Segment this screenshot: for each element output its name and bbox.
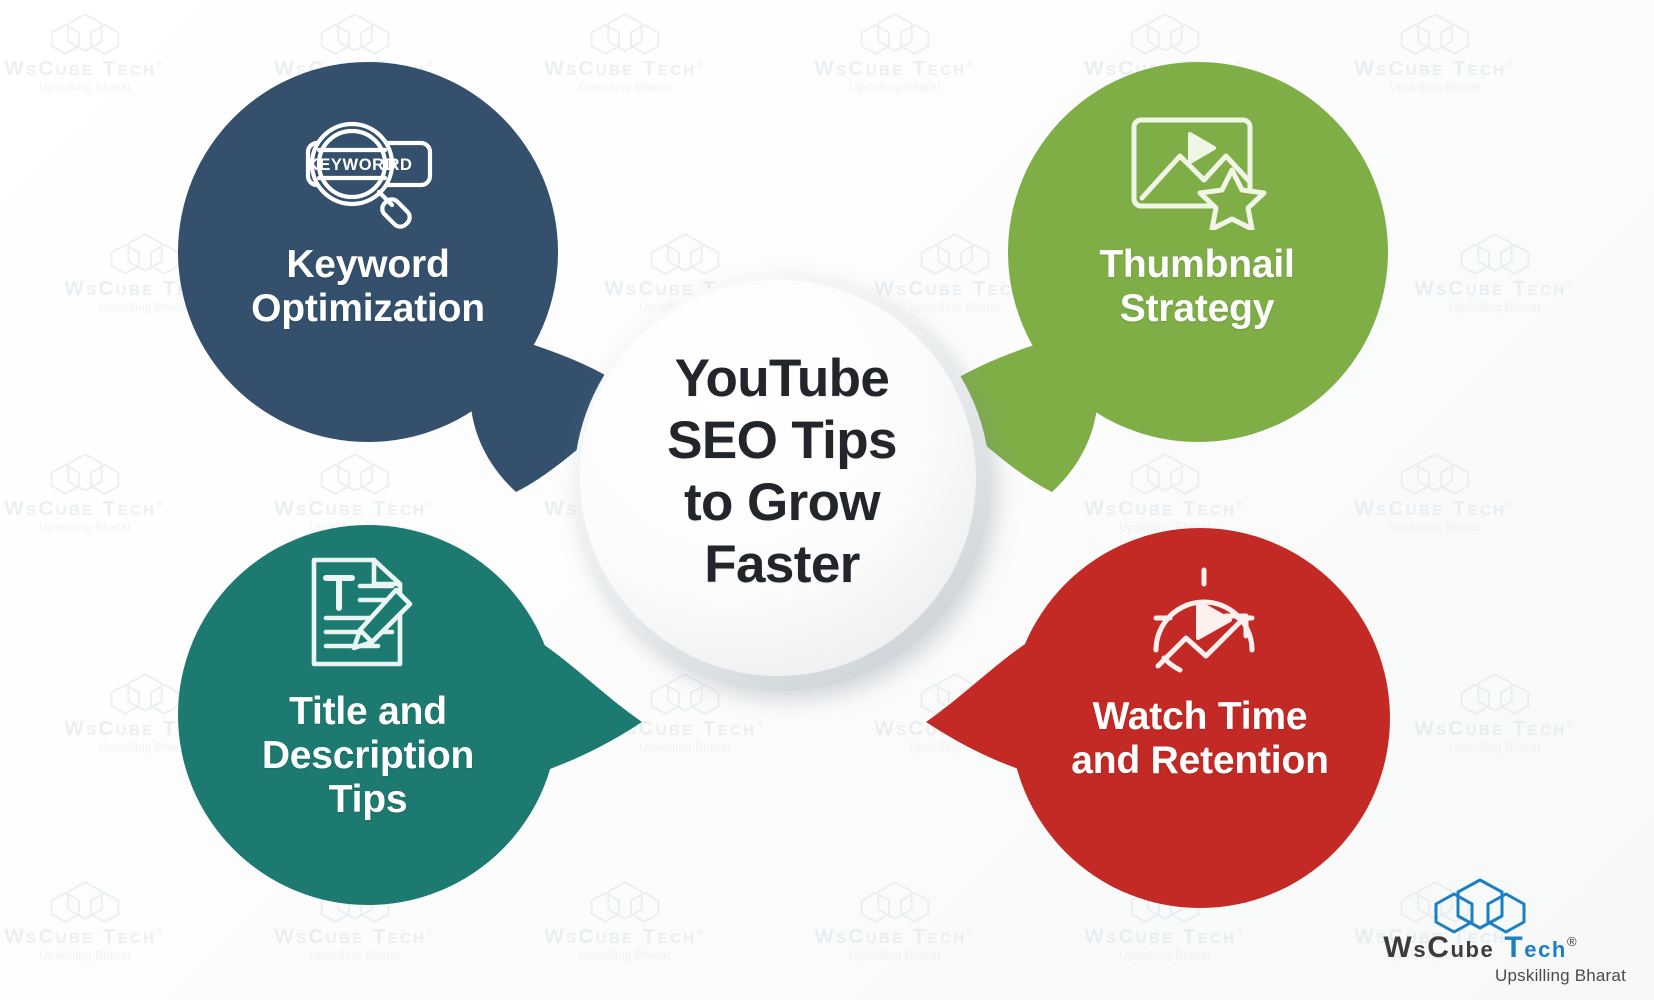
node-circle-keyword [178,62,558,442]
hub-and-spoke-diagram [0,0,1654,1000]
node-circle-thumbnail [1008,62,1388,442]
brand-logo: WsCube Tech® Upskilling Bharat [1330,877,1630,986]
node-circle-watch [1010,528,1390,908]
infographic-canvas: WsCube Tech®Upskilling BharatWsCube Tech… [0,0,1654,1000]
brand-ube: ube [1450,937,1494,962]
hexagon-logo-icon [1420,877,1540,935]
brand-tagline: Upskilling Bharat [1330,966,1630,986]
brand-ech: ech [1524,937,1567,962]
node-circle-title [178,525,558,905]
center-circle [580,280,976,676]
brand-t: T [1504,931,1524,964]
registered-mark: ® [1567,934,1577,949]
brand-w: W [1383,931,1413,964]
brand-c: C [1427,931,1450,964]
brand-name: WsCube Tech® [1330,933,1630,963]
brand-s: s [1413,937,1427,962]
